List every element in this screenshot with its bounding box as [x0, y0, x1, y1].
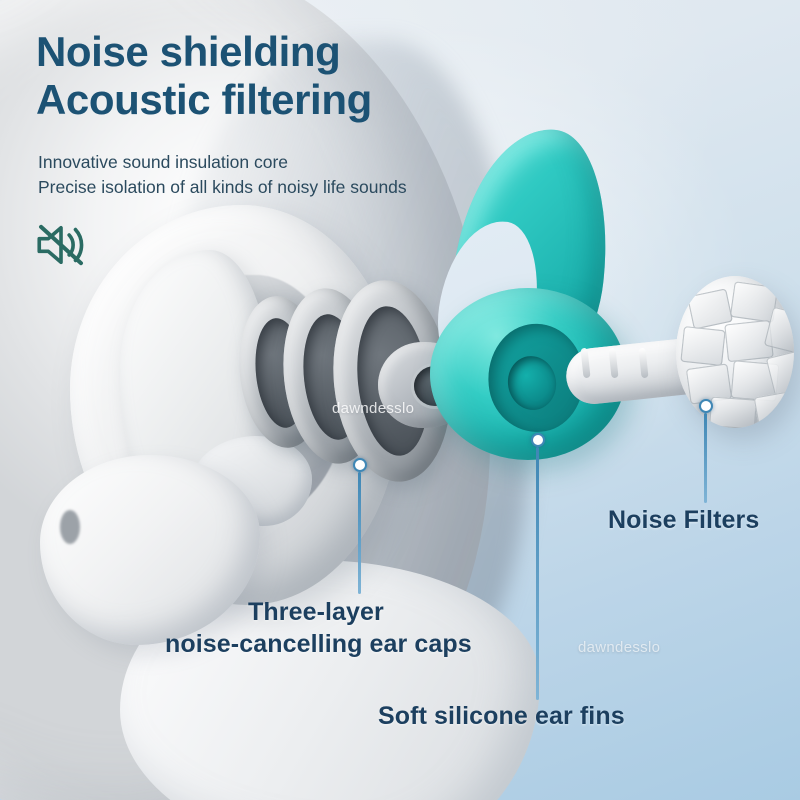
- headline-line-2: Acoustic filtering: [36, 76, 372, 124]
- product-infographic: Noise shielding Acoustic filtering Innov…: [0, 0, 800, 800]
- callout-line-soft-silicone-ear-fins: [536, 447, 539, 700]
- noise-filter-part: [566, 268, 796, 468]
- subtitle: Innovative sound insulation core Precise…: [38, 150, 407, 200]
- noise-filter-facet: [709, 396, 757, 428]
- watermark-bottom: dawndesslo: [578, 639, 660, 656]
- callout-label-three-layer-line-1: Three-layer: [248, 598, 384, 627]
- callout-label-three-layer-line-2: noise-cancelling ear caps: [165, 630, 472, 659]
- subtitle-line-2: Precise isolation of all kinds of noisy …: [38, 175, 407, 200]
- subtitle-line-1: Innovative sound insulation core: [38, 150, 407, 175]
- headline: Noise shielding Acoustic filtering: [36, 28, 372, 124]
- callout-label-soft-silicone-ear-fins: Soft silicone ear fins: [378, 702, 625, 731]
- noise-filter-head: [676, 276, 794, 428]
- noise-filter-facet: [680, 326, 726, 366]
- callout-line-noise-filters: [704, 413, 707, 503]
- callout-line-three-layer-ear-caps: [358, 472, 361, 594]
- mute-speaker-icon: [32, 216, 90, 274]
- callout-dot-soft-silicone-ear-fins[interactable]: [531, 433, 545, 447]
- callout-label-noise-filters: Noise Filters: [608, 506, 759, 535]
- callout-dot-noise-filters[interactable]: [699, 399, 713, 413]
- noise-filter-facet: [754, 391, 794, 428]
- ear-lobe-notch: [60, 510, 80, 544]
- headline-line-1: Noise shielding: [36, 28, 372, 76]
- callout-dot-three-layer-ear-caps[interactable]: [353, 458, 367, 472]
